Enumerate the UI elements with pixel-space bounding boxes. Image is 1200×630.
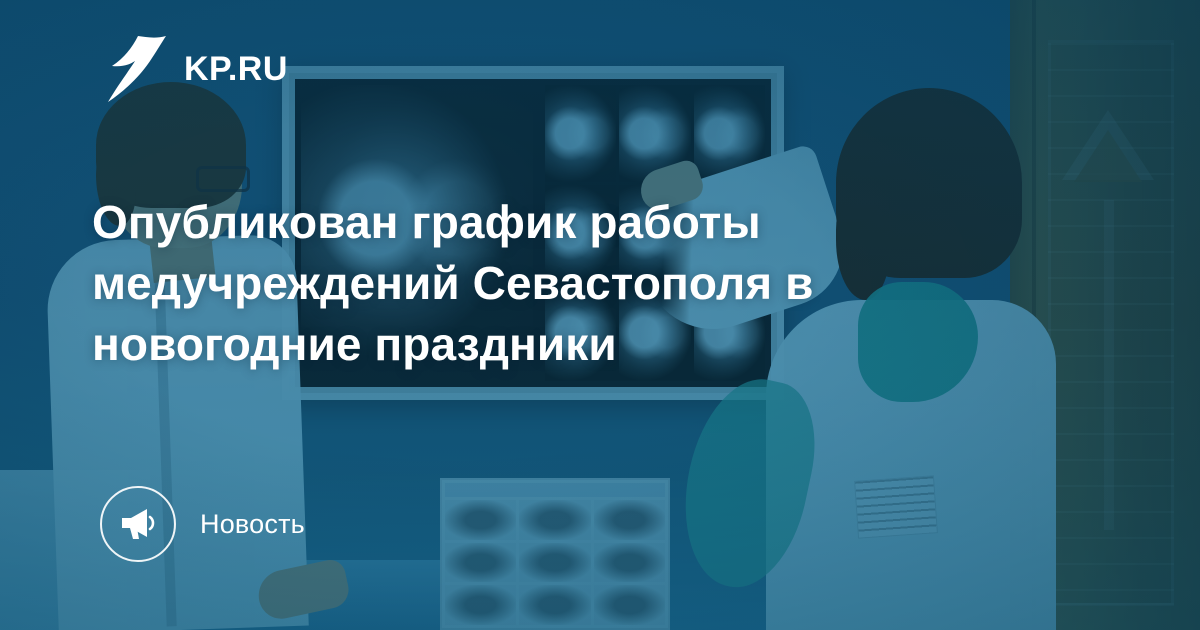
- news-share-card: KP.RU Опубликован график работы медучреж…: [0, 0, 1200, 630]
- page-title: Опубликован график работы медучреждений …: [92, 192, 972, 376]
- content-type-badge[interactable]: Новость: [100, 486, 305, 562]
- brand-name: KP.RU: [184, 52, 288, 86]
- badge-label: Новость: [200, 509, 305, 540]
- brand-logo[interactable]: KP.RU: [108, 36, 288, 102]
- bird-logo-icon: [108, 36, 166, 102]
- megaphone-icon: [100, 486, 176, 562]
